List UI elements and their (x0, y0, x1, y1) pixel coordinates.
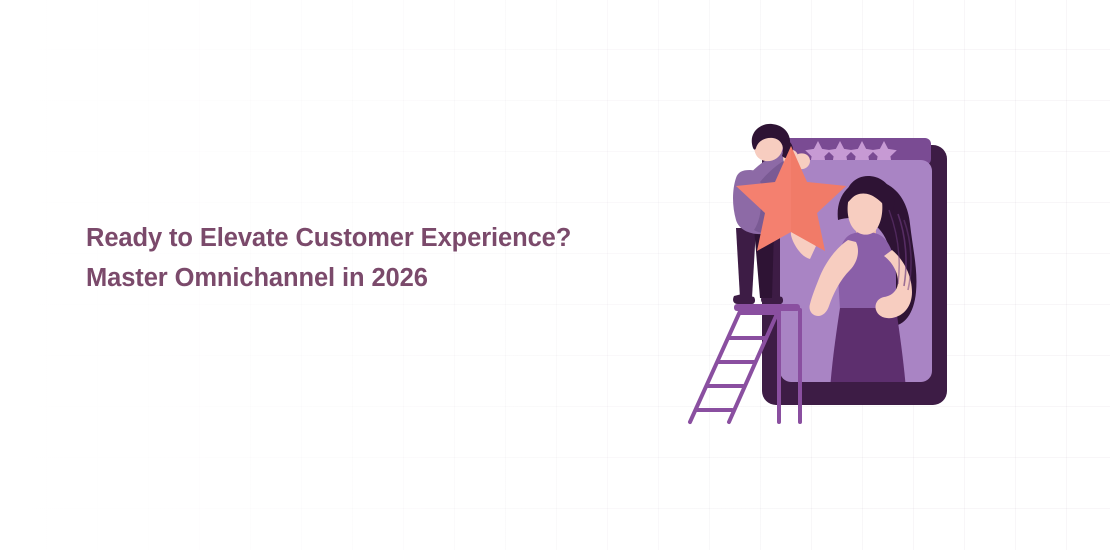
customer-experience-illustration (670, 110, 990, 440)
ladder-platform (734, 304, 800, 311)
woman-skirt (830, 308, 906, 390)
headline-line-1: Ready to Elevate Customer Experience? (86, 218, 646, 258)
ladder-rail-left (690, 307, 742, 422)
headline-line-2: Master Omnichannel in 2026 (86, 258, 646, 298)
man-leg-back (736, 228, 756, 298)
headline-block: Ready to Elevate Customer Experience? Ma… (86, 218, 646, 298)
cx-banner: Ready to Elevate Customer Experience? Ma… (0, 0, 1110, 550)
